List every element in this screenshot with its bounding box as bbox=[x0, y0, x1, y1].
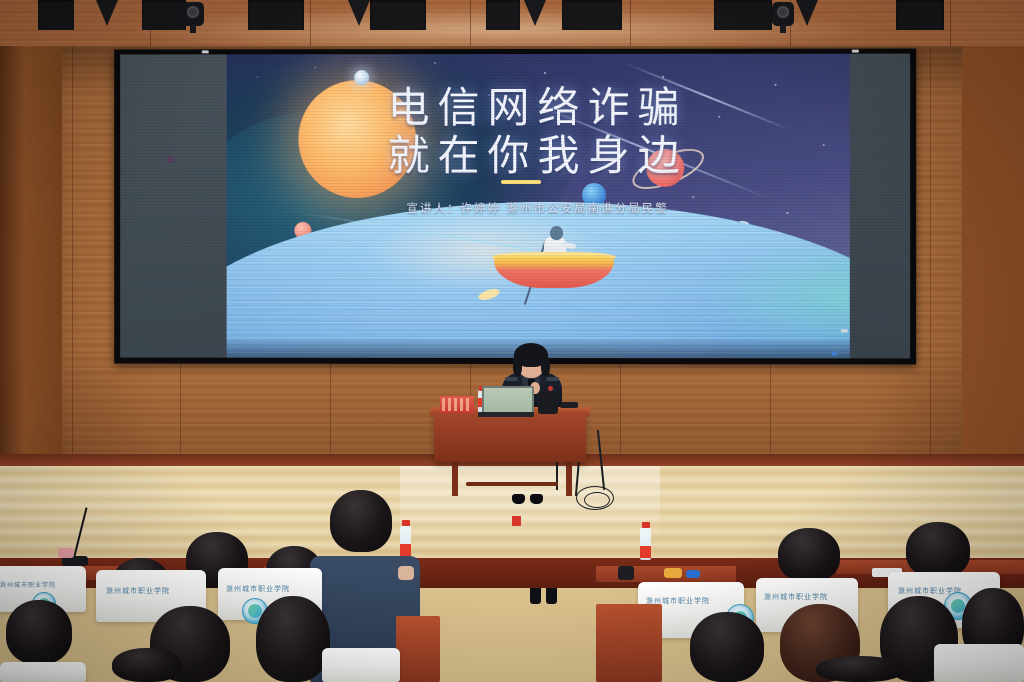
audience-object bbox=[664, 568, 682, 578]
desk-microphone-icon bbox=[560, 402, 578, 408]
eyeglasses-icon bbox=[34, 628, 50, 635]
acoustic-panel bbox=[38, 0, 74, 30]
chair-cover-label: 滁州城市职业学院 bbox=[764, 592, 828, 602]
audience-head bbox=[816, 656, 904, 682]
bottle-cap bbox=[402, 520, 410, 526]
led-screen[interactable]: 电信网络诈骗 就在你我身边 宣讲人：许婷婷 滁州市公安局南谯分局民警 bbox=[114, 49, 916, 365]
ceiling-wood bbox=[0, 0, 1024, 46]
screen-surface: 电信网络诈骗 就在你我身边 宣讲人：许婷婷 滁州市公安局南谯分局民警 bbox=[120, 54, 910, 359]
bottle-cap bbox=[642, 522, 650, 528]
bottle-label bbox=[640, 546, 651, 558]
chair-cover-label: 滁州城市职业学院 bbox=[0, 580, 56, 589]
chair-cover bbox=[0, 662, 86, 682]
spotlight-icon bbox=[768, 0, 798, 34]
audience-head bbox=[112, 648, 182, 682]
stage-light-icon bbox=[96, 0, 118, 26]
audience-object bbox=[618, 566, 634, 580]
cable-coil bbox=[584, 492, 610, 508]
chair-cover bbox=[934, 644, 1024, 682]
acoustic-panel bbox=[486, 0, 520, 30]
lecture-hall-photo: 电信网络诈骗 就在你我身边 宣讲人：许婷婷 滁州市公安局南谯分局民警 bbox=[0, 0, 1024, 682]
eyeglasses-icon bbox=[986, 606, 1006, 613]
chair-cover-label: 滁州城市职业学院 bbox=[226, 584, 290, 594]
bezel-marker bbox=[841, 329, 848, 332]
bottle-label bbox=[400, 544, 411, 556]
acoustic-panel bbox=[562, 0, 622, 30]
audience-head bbox=[778, 528, 840, 582]
letterbox-left bbox=[120, 54, 226, 357]
stage-light-icon bbox=[524, 0, 546, 26]
audience-head bbox=[906, 522, 970, 578]
acoustic-panel bbox=[248, 0, 304, 30]
stage-light-icon bbox=[348, 0, 370, 26]
audience-head bbox=[330, 490, 392, 552]
presentation-slide: 电信网络诈骗 就在你我身边 宣讲人：许婷婷 滁州市公安局南谯分局民警 bbox=[227, 54, 850, 359]
audience-head bbox=[690, 612, 764, 682]
moon-icon bbox=[354, 70, 369, 85]
audience-head bbox=[256, 596, 330, 682]
stage-marker-tape bbox=[512, 516, 521, 526]
audience-hand bbox=[398, 566, 414, 580]
spotlight-icon bbox=[178, 0, 208, 34]
desk-equipment bbox=[538, 392, 558, 414]
chair-cover-label: 滁州城市职业学院 bbox=[106, 586, 170, 596]
letterbox-right bbox=[850, 54, 910, 359]
slide-title-line1: 电信网络诈骗 bbox=[227, 84, 850, 132]
podium-desk bbox=[434, 412, 586, 462]
acoustic-panel bbox=[714, 0, 772, 30]
laptop-base bbox=[478, 412, 534, 417]
acoustic-panel bbox=[896, 0, 944, 30]
audience-object bbox=[686, 570, 700, 578]
audience-desk bbox=[596, 604, 662, 682]
boat-illustration bbox=[494, 230, 614, 290]
bezel-marker bbox=[202, 50, 209, 53]
slide-subtitle: 宣讲人：许婷婷 滁州市公安局南谯分局民警 bbox=[227, 200, 850, 216]
desk-nameplate bbox=[440, 396, 474, 413]
bezel-marker bbox=[852, 50, 859, 53]
stage-light-icon bbox=[796, 0, 818, 26]
audience-desk bbox=[396, 616, 440, 682]
chair-cover bbox=[322, 648, 400, 682]
title-underline bbox=[501, 180, 541, 184]
screen-dead-pixel bbox=[167, 156, 174, 163]
wall-right-column bbox=[962, 46, 1024, 466]
desk-object bbox=[58, 548, 74, 558]
laptop[interactable] bbox=[478, 386, 534, 416]
speaker-legs bbox=[16, 102, 44, 142]
slide-title-line2: 就在你我身边 bbox=[388, 131, 688, 180]
screen-power-led bbox=[832, 351, 837, 355]
slide-title: 电信网络诈骗 就在你我身边 bbox=[227, 84, 850, 180]
acoustic-panel bbox=[370, 0, 426, 30]
